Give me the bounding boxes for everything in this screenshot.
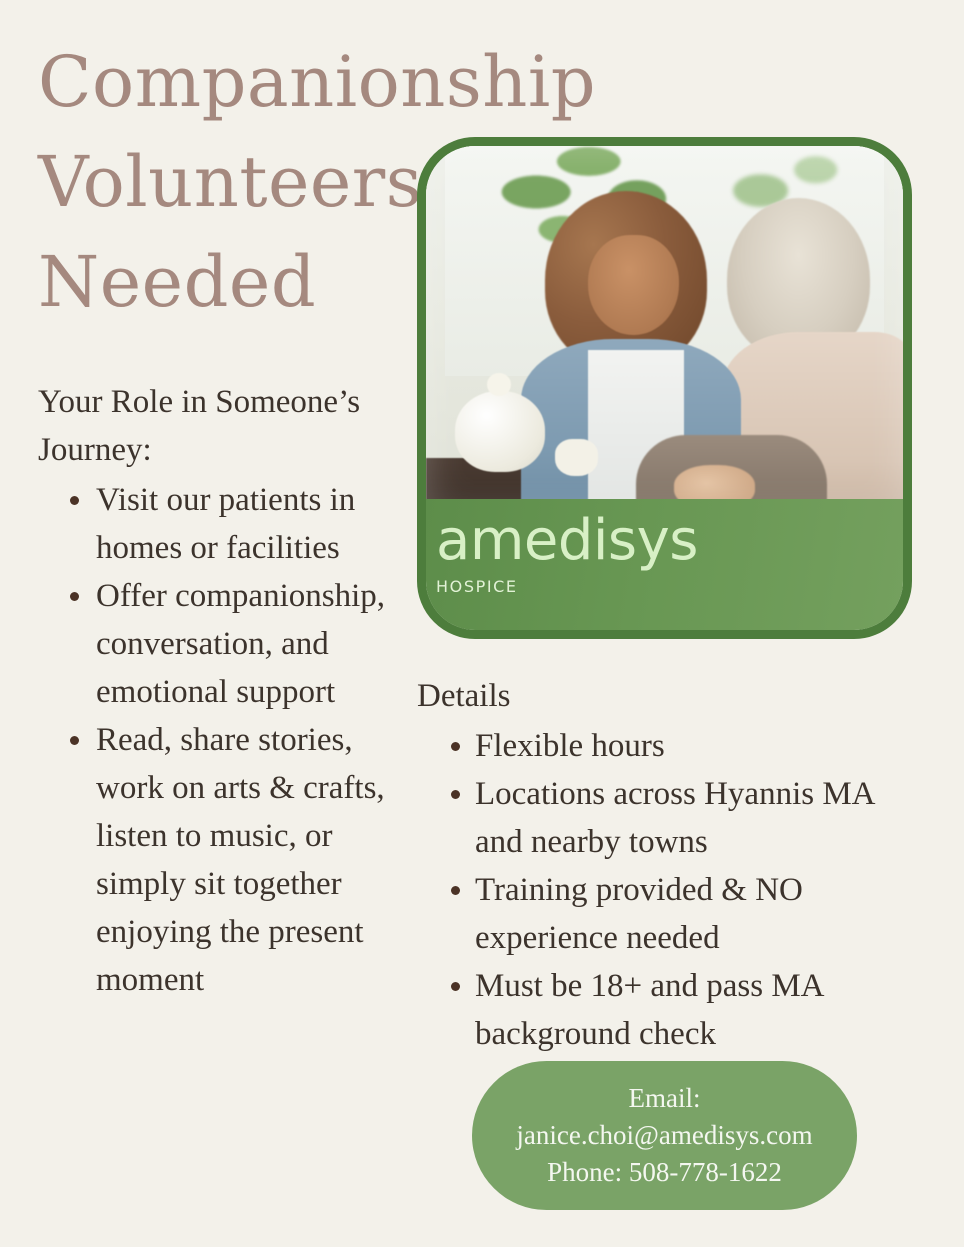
amedisys-tagline: HOSPICE [436,577,518,596]
bullet-dot-icon [451,982,460,991]
list-item: Visit our patients in homes or facilitie… [38,476,390,572]
role-section-heading: Your Role in Someone’s Journey: [38,378,390,474]
brand-logo-band: amedisys HOSPICE [426,499,903,630]
bullet-dot-icon [451,886,460,895]
headline-line-1: Companionship [38,32,458,132]
poster-canvas: Companionship Volunteers Needed Your Rol… [0,0,964,1247]
email-address[interactable]: janice.choi@amedisys.com [516,1117,812,1154]
details-section: Details Flexible hours Locations across … [417,672,917,1058]
list-item: Read, share stories, work on arts & craf… [38,716,390,1004]
list-item: Offer companionship, conversation, and e… [38,572,390,716]
bullet-dot-icon [70,496,79,505]
bullet-dot-icon [70,736,79,745]
contact-badge: Email: janice.choi@amedisys.com Phone: 5… [472,1061,857,1210]
list-item-label: Offer companionship, conversation, and e… [96,578,385,710]
bullet-dot-icon [451,742,460,751]
role-section: Your Role in Someone’s Journey: Visit ou… [38,378,390,1004]
list-item-label: Locations across Hyannis MA and nearby t… [475,776,874,860]
role-bullet-list: Visit our patients in homes or facilitie… [38,476,390,1004]
list-item-label: Read, share stories, work on arts & craf… [96,722,385,998]
list-item-label: Flexible hours [475,728,665,764]
amedisys-wordmark: amedisys [436,513,698,569]
list-item: Must be 18+ and pass MA background check [417,962,917,1058]
list-item-label: Training provided & NO experience needed [475,872,803,956]
headline-line-2: Volunteers [38,132,458,232]
details-section-heading: Details [417,672,917,720]
page-title: Companionship Volunteers Needed [38,32,458,332]
list-item: Training provided & NO experience needed [417,866,917,962]
email-label: Email: [629,1080,701,1117]
caregiver-photo [426,146,903,517]
list-item-label: Must be 18+ and pass MA background check [475,968,823,1052]
list-item: Flexible hours [417,722,917,770]
list-item-label: Visit our patients in homes or facilitie… [96,482,355,566]
bullet-dot-icon [451,790,460,799]
photo-card: amedisys HOSPICE [417,137,912,639]
headline-line-3: Needed [38,232,458,332]
bullet-dot-icon [70,592,79,601]
list-item: Locations across Hyannis MA and nearby t… [417,770,917,866]
phone-number[interactable]: Phone: 508-778-1622 [547,1154,782,1191]
photo-soft-light [426,146,903,517]
details-bullet-list: Flexible hours Locations across Hyannis … [417,722,917,1058]
